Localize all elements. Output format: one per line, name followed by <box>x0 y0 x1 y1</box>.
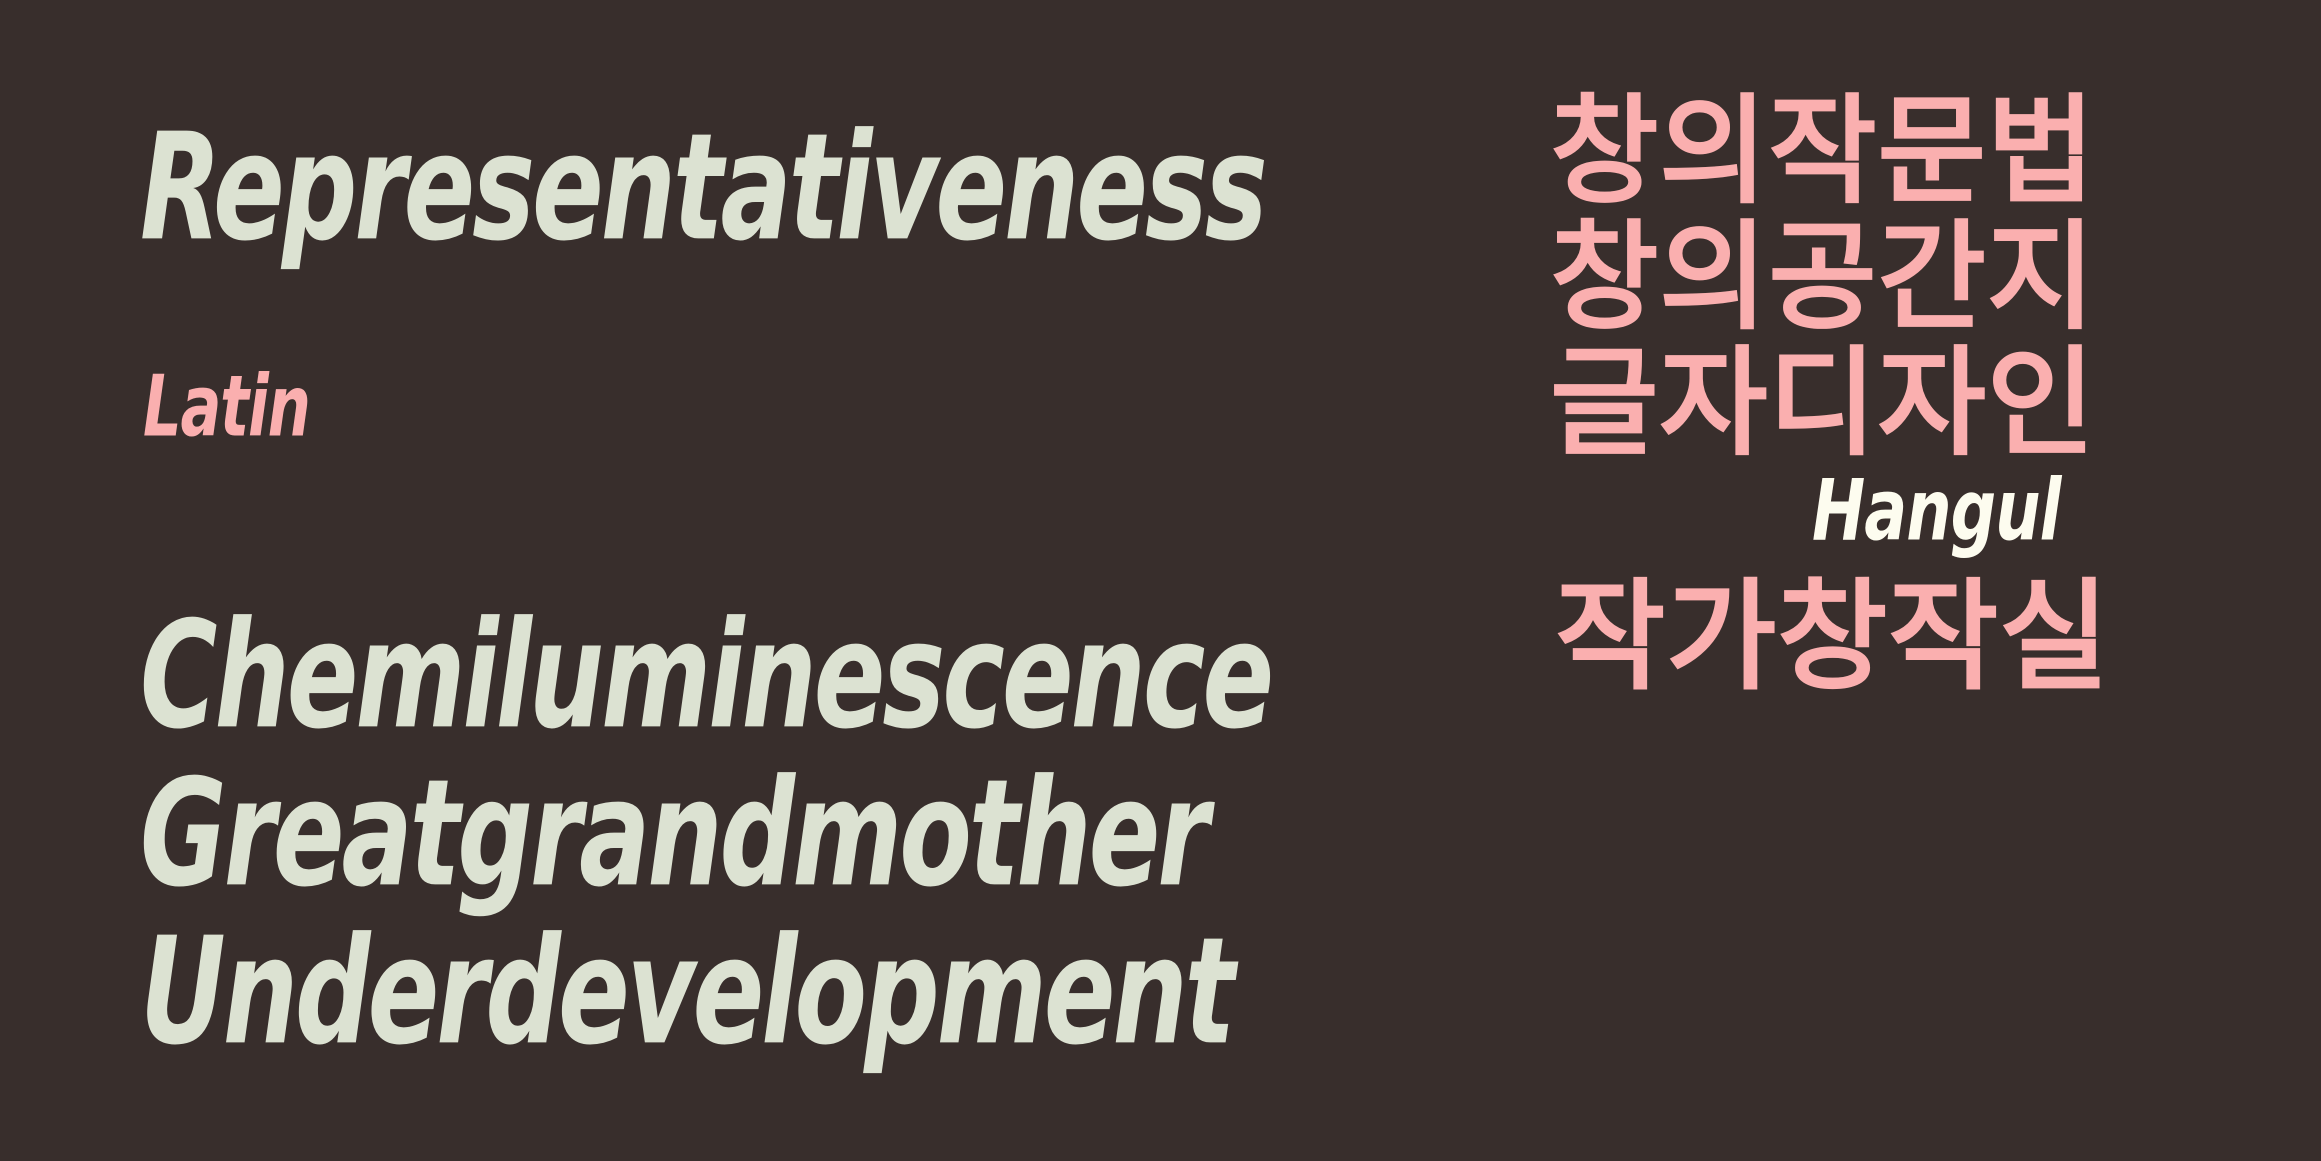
hangul-sample-line-1: 창의작문법 <box>1550 92 2096 210</box>
hangul-specimen-column: 창의작문법 창의공간지 글자디자인 Hangul 작가창작실 <box>1450 0 2321 1161</box>
hangul-sample-line-4: 작가창작실 <box>1555 578 2110 698</box>
hangul-sample-line-3: 글자디자인 <box>1550 344 2096 462</box>
latin-sample-line-1: Representativeness <box>140 114 1265 262</box>
latin-sample-line-3: Greatgrandmother <box>140 760 1206 908</box>
latin-specimen-column: Representativeness Latin Chemiluminescen… <box>0 0 1450 1161</box>
font-specimen-canvas: Representativeness Latin Chemiluminescen… <box>0 0 2321 1161</box>
hangul-sample-line-2: 창의공간지 <box>1550 218 2096 336</box>
hangul-script-label: Hangul <box>1812 469 2060 553</box>
latin-script-label: Latin <box>143 365 310 449</box>
latin-sample-line-2: Chemiluminescence <box>140 602 1271 750</box>
latin-sample-line-4: Underdevelopment <box>140 918 1232 1066</box>
